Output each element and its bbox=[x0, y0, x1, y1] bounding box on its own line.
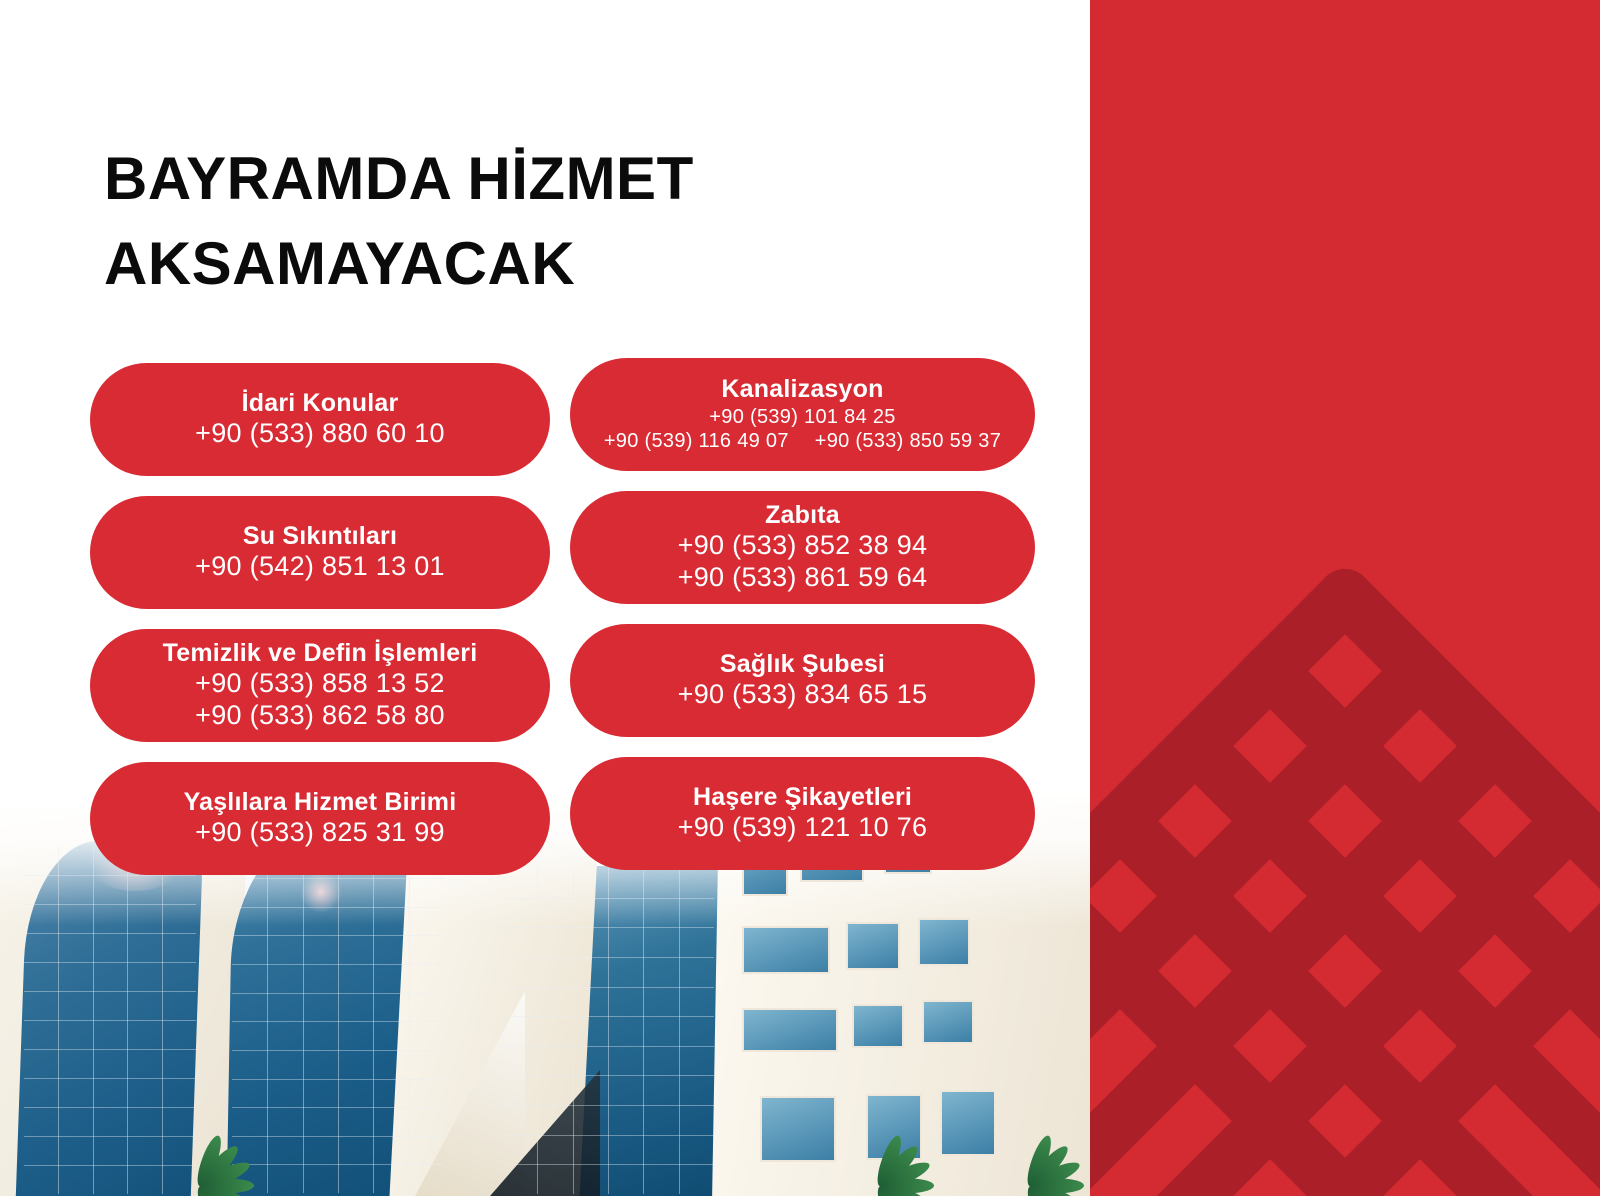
card-phone[interactable]: +90 (542) 851 13 01 bbox=[195, 551, 445, 583]
card-phone[interactable]: +90 (533) 858 13 52 bbox=[195, 668, 445, 700]
card-phone-row: +90 (539) 116 49 07 +90 (533) 850 59 37 bbox=[604, 429, 1001, 453]
pomegranate-lattice-motif-icon bbox=[1090, 556, 1600, 1196]
card-phone-tertiary[interactable]: +90 (533) 850 59 37 bbox=[815, 429, 1001, 453]
contact-card-temizlik-ve-defin[interactable]: Temizlik ve Defin İşlemleri +90 (533) 85… bbox=[90, 629, 550, 742]
contact-cards: İdari Konular +90 (533) 880 60 10 Su Sık… bbox=[0, 0, 1090, 1196]
poster-root: BAYRAMDA HİZMET AKSAMAYACAK İdari Konula… bbox=[0, 0, 1600, 1196]
card-phone[interactable]: +90 (533) 852 38 94 bbox=[678, 530, 928, 562]
contact-column-left: İdari Konular +90 (533) 880 60 10 Su Sık… bbox=[90, 363, 550, 895]
contact-card-su-sikintilari[interactable]: Su Sıkıntıları +90 (542) 851 13 01 bbox=[90, 496, 550, 609]
contact-card-zabita[interactable]: Zabıta +90 (533) 852 38 94 +90 (533) 861… bbox=[570, 491, 1035, 604]
card-title: Haşere Şikayetleri bbox=[693, 783, 912, 813]
contact-card-hasere-sikayetleri[interactable]: Haşere Şikayetleri +90 (539) 121 10 76 bbox=[570, 757, 1035, 870]
card-phone-secondary[interactable]: +90 (539) 116 49 07 bbox=[604, 429, 789, 453]
card-title: Kanalizasyon bbox=[721, 375, 883, 405]
card-phone[interactable]: +90 (533) 834 65 15 bbox=[678, 679, 928, 711]
card-phone-secondary[interactable]: +90 (533) 862 58 80 bbox=[195, 700, 445, 732]
contact-card-saglik-subesi[interactable]: Sağlık Şubesi +90 (533) 834 65 15 bbox=[570, 624, 1035, 737]
card-phone[interactable]: +90 (533) 825 31 99 bbox=[195, 817, 445, 849]
brand-panel: GÖNYELİ-ALAYKÖY BELEDİYESİ bbox=[1090, 0, 1600, 1196]
contact-card-idari-konular[interactable]: İdari Konular +90 (533) 880 60 10 bbox=[90, 363, 550, 476]
contact-column-right: Kanalizasyon +90 (539) 101 84 25 +90 (53… bbox=[570, 358, 1035, 890]
card-phone[interactable]: +90 (533) 880 60 10 bbox=[195, 418, 445, 450]
card-phone[interactable]: +90 (539) 121 10 76 bbox=[678, 812, 928, 844]
contact-card-kanalizasyon[interactable]: Kanalizasyon +90 (539) 101 84 25 +90 (53… bbox=[570, 358, 1035, 471]
card-title: Sağlık Şubesi bbox=[720, 650, 885, 680]
contact-card-yaslilara-hizmet[interactable]: Yaşlılara Hizmet Birimi +90 (533) 825 31… bbox=[90, 762, 550, 875]
content-area: BAYRAMDA HİZMET AKSAMAYACAK İdari Konula… bbox=[0, 0, 1090, 1196]
card-phone[interactable]: +90 (539) 101 84 25 bbox=[709, 405, 895, 429]
card-title: Yaşlılara Hizmet Birimi bbox=[184, 788, 457, 818]
card-title: Zabıta bbox=[765, 501, 840, 531]
card-title: İdari Konular bbox=[242, 389, 399, 419]
card-title: Temizlik ve Defin İşlemleri bbox=[163, 639, 478, 669]
card-phone-secondary[interactable]: +90 (533) 861 59 64 bbox=[678, 562, 928, 594]
card-title: Su Sıkıntıları bbox=[243, 522, 397, 552]
